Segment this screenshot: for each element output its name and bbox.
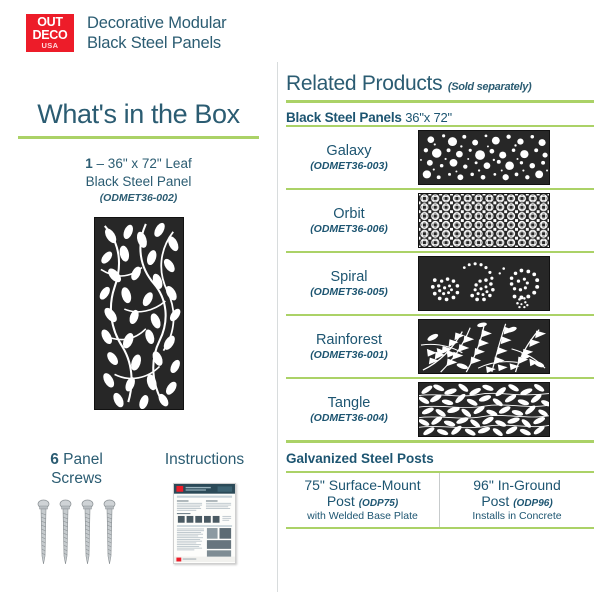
product-name: Orbit bbox=[286, 206, 412, 223]
screws-count: 6 bbox=[50, 451, 59, 468]
product-row-rainforest[interactable]: Rainforest (ODMET36-001) bbox=[286, 314, 594, 377]
post-title-line1: 75" Surface-Mount bbox=[304, 477, 420, 493]
product-row-spiral[interactable]: Spiral (ODMET36-005) bbox=[286, 251, 594, 314]
logo-line-3: USA bbox=[41, 42, 58, 50]
screws-group: 6 Panel Screws bbox=[14, 451, 139, 570]
post-cell-odp75[interactable]: 75" Surface-Mount Post (ODP75) with Weld… bbox=[286, 473, 440, 527]
screw-icon bbox=[59, 498, 72, 568]
product-name: Galaxy bbox=[286, 143, 412, 160]
black-steel-panels-dimension: 36"x 72" bbox=[405, 110, 452, 125]
post-detail: with Welded Base Plate bbox=[288, 510, 437, 522]
screw-icon bbox=[103, 498, 116, 568]
screws-label: 6 Panel Screws bbox=[14, 451, 139, 488]
post-title-line2: Post bbox=[327, 493, 359, 509]
related-products-title: Related Products (Sold separately) bbox=[286, 72, 594, 96]
post-title: 75" Surface-Mount Post (ODP75) bbox=[288, 478, 437, 509]
leaf-panel-image bbox=[94, 217, 184, 410]
screws-label-line2: Screws bbox=[14, 470, 139, 489]
black-steel-panels-label: Black Steel Panels bbox=[286, 110, 402, 125]
column-divider bbox=[277, 62, 278, 592]
infographic-page: OUT DECO USA Decorative Modular Black St… bbox=[0, 0, 600, 600]
galvanized-steel-posts-heading: Galvanized Steel Posts bbox=[286, 451, 594, 466]
panel-quantity-number: 1 bbox=[85, 156, 93, 171]
product-sku: (ODMET36-006) bbox=[286, 223, 412, 235]
product-text: Galaxy (ODMET36-003) bbox=[286, 143, 412, 173]
related-products-section: Related Products (Sold separately) Black… bbox=[286, 66, 594, 529]
post-title: 96" In-Ground Post (ODP96) bbox=[442, 478, 592, 509]
post-sku: (ODP75) bbox=[359, 498, 398, 509]
product-row-orbit[interactable]: Orbit (ODMET36-006) bbox=[286, 188, 594, 251]
product-image-galaxy bbox=[418, 130, 550, 185]
post-title-line2: Post bbox=[481, 493, 513, 509]
page-title: Decorative Modular Black Steel Panels bbox=[87, 13, 226, 53]
instruction-sheet-image bbox=[173, 483, 236, 564]
instructions-group: Instructions bbox=[142, 451, 267, 564]
outdeco-logo: OUT DECO USA bbox=[26, 14, 74, 52]
post-title-line1: 96" In-Ground bbox=[473, 477, 560, 493]
product-name: Tangle bbox=[286, 395, 412, 412]
screws-label-rest: Panel bbox=[59, 451, 103, 468]
product-text: Rainforest (ODMET36-001) bbox=[286, 332, 412, 362]
panel-product-name: Black Steel Panel bbox=[0, 173, 277, 191]
green-divider bbox=[286, 440, 594, 443]
product-text: Orbit (ODMET36-006) bbox=[286, 206, 412, 236]
page-title-line-2: Black Steel Panels bbox=[87, 33, 226, 53]
panel-sku: (ODMET36-002) bbox=[0, 192, 277, 204]
product-sku: (ODMET36-004) bbox=[286, 412, 412, 424]
screw-icon bbox=[81, 498, 94, 568]
product-image-spiral bbox=[418, 256, 550, 311]
product-sku: (ODMET36-005) bbox=[286, 286, 412, 298]
related-products-heading: Related Products bbox=[286, 72, 442, 95]
section-title-box: What's in the Box bbox=[0, 99, 277, 130]
page-header: OUT DECO USA Decorative Modular Black St… bbox=[0, 0, 600, 66]
post-cell-odp96[interactable]: 96" In-Ground Post (ODP96) Installs in C… bbox=[440, 473, 594, 527]
product-image-orbit bbox=[418, 193, 550, 248]
logo-line-1: OUT bbox=[37, 16, 63, 29]
green-divider bbox=[18, 136, 259, 139]
screw-icon bbox=[37, 498, 50, 568]
product-row-tangle[interactable]: Tangle (ODMET36-004) bbox=[286, 377, 594, 440]
logo-line-2: DECO bbox=[33, 29, 68, 42]
post-detail: Installs in Concrete bbox=[442, 510, 592, 522]
post-sku: (ODP96) bbox=[513, 498, 552, 509]
black-steel-panels-heading: Black Steel Panels 36"x 72" bbox=[286, 110, 594, 125]
product-row-galaxy[interactable]: Galaxy (ODMET36-003) bbox=[286, 125, 594, 188]
product-text: Spiral (ODMET36-005) bbox=[286, 269, 412, 299]
whats-in-the-box-section: What's in the Box 1 – 36" x 72" Leaf Bla… bbox=[0, 66, 277, 600]
instructions-label: Instructions bbox=[142, 451, 267, 470]
product-text: Tangle (ODMET36-004) bbox=[286, 395, 412, 425]
panel-quantity: 1 – 36" x 72" Leaf Black Steel Panel bbox=[0, 155, 277, 190]
product-name: Spiral bbox=[286, 269, 412, 286]
page-title-line-1: Decorative Modular bbox=[87, 13, 226, 33]
product-image-tangle bbox=[418, 382, 550, 437]
product-name: Rainforest bbox=[286, 332, 412, 349]
green-divider bbox=[286, 100, 594, 103]
screws-image bbox=[14, 498, 139, 570]
posts-table: 75" Surface-Mount Post (ODP75) with Weld… bbox=[286, 471, 594, 529]
panel-quantity-text: – 36" x 72" Leaf bbox=[93, 156, 192, 171]
product-sku: (ODMET36-001) bbox=[286, 349, 412, 361]
sold-separately-note: (Sold separately) bbox=[448, 81, 532, 93]
product-sku: (ODMET36-003) bbox=[286, 160, 412, 172]
product-image-rainforest bbox=[418, 319, 550, 374]
